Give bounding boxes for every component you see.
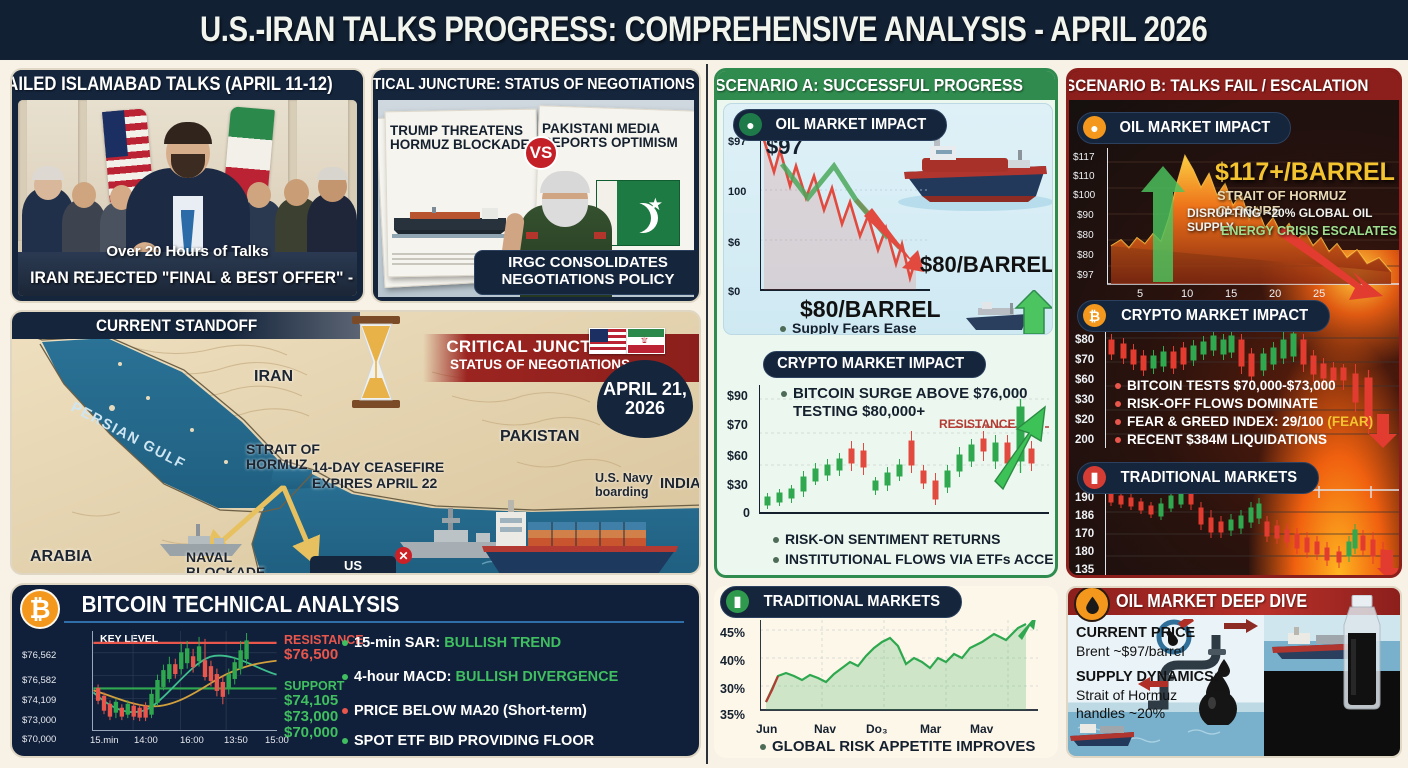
deep-dive-right-illustration: PRICE SCENARIOS Deal: $80-85 Status Quo:…: [1264, 615, 1400, 756]
btc-bullet-2: PRICE BELOW MA20 (Short-term): [342, 703, 587, 719]
trad-b-ytick-4: 135: [1075, 564, 1094, 576]
map-label-arabia: ARABIA: [30, 548, 92, 566]
oil-a-ytick-2: $6: [728, 237, 740, 249]
trad-a-bullet: GLOBAL RISK APPETITE IMPROVES: [760, 738, 1035, 755]
chart-up-icon: ▮: [1083, 466, 1106, 489]
irgc-badge: IRGC CONSOLIDATES NEGOTIATIONS POLICY: [474, 250, 694, 295]
crypto-a-ytick-1: $70: [727, 418, 748, 432]
oil-a-end-price: $80/BARREL: [920, 252, 1053, 278]
trad-a-ytick-1: 40%: [720, 654, 745, 668]
crypto-a-headline: BITCOIN SURGE ABOVE $76,000 TESTING $80,…: [781, 385, 1028, 421]
oil-drop-icon: [1074, 586, 1110, 622]
crypto-a-ytick-3: $30: [727, 478, 748, 492]
fear-tag: (FEAR): [1327, 414, 1373, 429]
deep-supply-value-2: handles ~20%: [1076, 705, 1165, 721]
crypto-a-bullet-0: RISK-ON SENTIMENT RETURNS: [773, 531, 1000, 547]
btc-bullet-3: SPOT ETF BID PROVIDING FLOOR: [342, 733, 594, 749]
crypto-a-ytick-2: $60: [727, 449, 748, 463]
crypto-b-bullet-0: BITCOIN TESTS $70,000-$73,000: [1115, 378, 1336, 393]
btc-ytick-3: $73,000: [22, 715, 56, 726]
bullet-dot-icon: [342, 738, 348, 744]
crypto-a-ytick-4: 0: [743, 506, 750, 520]
headline-left: TRUMP THREATENS HORMUZ BLOCKADE: [390, 124, 536, 152]
bullet-dot-icon: [760, 744, 766, 750]
oil-b-ytick-3: $90: [1077, 210, 1094, 221]
islamabad-main-caption: IRAN REJECTED "FINAL & BEST OFFER" - NO …: [18, 268, 357, 288]
oil-b-xtick-0: 5: [1137, 288, 1143, 300]
bullet-dot-icon: [1115, 383, 1121, 389]
chip-crypto-market-impact-b: ₿ CRYPTO MARKET IMPACT: [1077, 300, 1330, 332]
btc-ytick-2: $74,109: [22, 695, 56, 706]
deep-current-price-label: CURRENT PRICE: [1076, 625, 1195, 641]
chart-up-icon: ▮: [726, 590, 749, 613]
bitcoin-icon: ₿: [20, 589, 60, 629]
bullet-dot-icon: [1115, 437, 1121, 443]
bitcoin-icon: ₿: [1083, 304, 1106, 327]
crypto-b-ytick-3: $30: [1075, 394, 1094, 406]
crypto-b-ytick-2: $60: [1075, 374, 1094, 386]
map-label-india: INDIA: [660, 475, 701, 492]
chip-traditional-markets-b: ▮ TRADITIONAL MARKETS: [1077, 462, 1319, 494]
panel-bitcoin-technical-analysis: ₿ BITCOIN TECHNICAL ANALYSIS KEY LEVEL $…: [10, 583, 701, 758]
map-label-strait: STRAIT OF HORMUZ: [246, 442, 320, 472]
oil-a-bullet-0: Supply Fears Ease: [780, 320, 917, 335]
panel-header-juncture: CRITICAL JUNCTURE: STATUS OF NEGOTIATION…: [373, 70, 699, 100]
btc-support-label: SUPPORT: [284, 679, 344, 693]
oil-a-ytick-1: 100: [728, 186, 746, 198]
btc-xtick-2: 16:00: [180, 735, 204, 746]
crypto-b-bullet-1: RISK-OFF FLOWS DOMINATE: [1115, 396, 1318, 411]
divider: [64, 621, 684, 623]
crypto-b-ytick-4: $20: [1075, 414, 1094, 426]
bullet-dot-icon: [342, 640, 348, 646]
oil-b-ytick-0: $117: [1073, 152, 1095, 163]
trad-b-candlestick-chart: [1105, 486, 1399, 578]
oil-drop-icon: ●: [1083, 116, 1106, 139]
map-label-pakistan: PAKISTAN: [500, 428, 579, 446]
oil-a-ytick-3: $0: [728, 286, 740, 298]
us-flag-icon: [589, 328, 627, 354]
hourglass-icon: [348, 316, 404, 408]
trad-a-xtick-2: Do₃: [866, 722, 888, 736]
crypto-a-bullet-1: INSTITUTIONAL FLOWS VIA ETFs ACCELERATE: [773, 551, 1053, 567]
btc-xtick-0: 15.min: [90, 735, 119, 746]
btc-ytick-4: $70,000: [22, 734, 56, 745]
map-label-ceasefire: 14-DAY CEASEFIRE EXPIRES APRIL 22: [312, 460, 444, 491]
oil-b-xtick-3: 20: [1269, 288, 1281, 300]
panel-scenario-a: SCENARIO A: SUCCESSFUL PROGRESS $97 100 …: [714, 68, 1058, 578]
trad-a-ytick-3: 35%: [720, 708, 745, 722]
flag-pair: [589, 328, 665, 354]
crypto-b-ytick-5: 200: [1075, 434, 1094, 446]
crypto-b-bullet-2: FEAR & GREED INDEX: 29/100 (FEAR): [1115, 414, 1373, 429]
close-icon: ✕: [395, 547, 412, 564]
bullet-dot-icon: [1115, 419, 1121, 425]
panel-oil-market-deep-dive: OIL MARKET DEEP DIVE: [1066, 586, 1402, 758]
btc-ytick-0: $76,562: [22, 650, 56, 661]
oil-b-xtick-2: 15: [1225, 288, 1237, 300]
trad-b-ytick-3: 180: [1075, 546, 1094, 558]
trad-a-area-chart: [760, 620, 1038, 718]
btc-support-value-2: $70,000: [284, 725, 338, 742]
btc-bullet-1: 4-hour MACD: BULLISH DIVERGENCE: [342, 669, 618, 685]
headline-right: PAKISTANI MEDIA REPORTS OPTIMISM: [542, 122, 694, 150]
map-label-iran: IRAN: [254, 368, 293, 386]
chip-traditional-markets-a: ▮ TRADITIONAL MARKETS: [720, 586, 962, 618]
panel-header-btc-ta: BITCOIN TECHNICAL ANALYSIS: [64, 591, 417, 618]
trad-a-xtick-4: Mav: [970, 722, 993, 736]
bullet-dot-icon: [1115, 401, 1121, 407]
deep-dive-left-illustration: CURRENT PRICE Brent ~$97/barrel SUPPLY D…: [1068, 615, 1264, 756]
oil-b-ytick-2: $100: [1073, 190, 1095, 201]
juncture-illustration: TRUMP THREATENS HORMUZ BLOCKADE PAKISTAN…: [378, 100, 694, 297]
oil-b-ytick-4: $80: [1077, 230, 1094, 241]
crypto-b-ytick-0: $80: [1075, 334, 1094, 346]
trad-a-xtick-1: Nav: [814, 722, 836, 736]
vs-badge: VS: [524, 136, 558, 170]
btc-xtick-1: 14:00: [134, 735, 158, 746]
bullet-dot-icon: [342, 674, 348, 680]
oil-b-xtick-1: 10: [1181, 288, 1193, 300]
deep-supply-label: SUPPLY DYNAMICS:: [1076, 669, 1219, 685]
trad-a-xtick-0: Jun: [756, 722, 777, 736]
btc-bullet-0: 15-min SAR: BULLISH TREND: [342, 635, 561, 651]
oil-b-sub-3: ENERGY CRISIS ESCALATES: [1221, 224, 1397, 238]
btc-resistance-value: $76,500: [284, 647, 338, 664]
oil-b-xtick-4: 25: [1313, 288, 1325, 300]
oil-b-ytick-6: $97: [1077, 270, 1094, 281]
trad-b-ytick-1: 186: [1075, 510, 1094, 522]
bullet-dot-icon: [342, 708, 348, 714]
btc-xtick-3: 13:50: [224, 735, 248, 746]
oil-b-ytick-5: $80: [1077, 250, 1094, 261]
oil-drop-icon: ●: [739, 113, 762, 136]
page-title: U.S.-IRAN TALKS PROGRESS: COMPREHENSIVE …: [200, 10, 1207, 50]
chip-oil-market-impact-a: ● OIL MARKET IMPACT: [733, 109, 947, 141]
btc-ytick-1: $76,582: [22, 675, 56, 686]
chip-oil-market-impact-b: ● OIL MARKET IMPACT: [1077, 112, 1291, 144]
panel-traditional-markets-a: ▮ TRADITIONAL MARKETS 45% 40% 30% 35% Ju…: [714, 586, 1058, 758]
oil-bottle-icon: [1332, 595, 1392, 711]
green-up-arrow-icon: [1014, 290, 1053, 334]
islamabad-illustration: Over 20 Hours of Talks IRAN REJECTED "FI…: [18, 100, 357, 296]
scenario-b-body: $117 $110 $100 $90 $80 $80 $97: [1069, 100, 1399, 575]
bullet-dot-icon: [781, 391, 787, 397]
panel-critical-juncture: CRITICAL JUNCTURE: STATUS OF NEGOTIATION…: [371, 68, 701, 303]
trad-a-ytick-2: 30%: [720, 682, 745, 696]
page-title-bar: U.S.-IRAN TALKS PROGRESS: COMPREHENSIVE …: [0, 0, 1408, 60]
bullet-dot-icon: [773, 537, 779, 543]
deep-supply-value-1: Strait of Hormuz: [1076, 687, 1177, 703]
oil-b-big-price: $117+/BARREL: [1215, 158, 1395, 187]
panel-current-standoff-map: PERSIAN GULF: [10, 310, 701, 575]
trad-a-xtick-3: Mar: [920, 722, 941, 736]
map-tag-us-extended-blockade: US EXTENDED BLOCKADE: [310, 556, 396, 575]
crypto-a-resistance-label: RESISTANCE: [939, 417, 1015, 431]
panel-header-scenario-a: SCENARIO A: SUCCESSFUL PROGRESS: [717, 71, 1055, 100]
trad-a-ytick-0: 45%: [720, 626, 745, 640]
deep-current-price-value: Brent ~$97/barrel: [1076, 643, 1185, 659]
chip-crypto-market-impact-a: CRYPTO MARKET IMPACT: [763, 351, 986, 378]
panel-header-scenario-b: SCENARIO B: TALKS FAIL / ESCALATION: [1069, 71, 1399, 100]
iran-flag-icon: [627, 328, 665, 354]
map-label-naval-blockade: NAVAL BLOCKADE: [186, 550, 265, 575]
panel-failed-islamabad-talks: FAILED ISLAMABAD TALKS (APRIL 11-12): [10, 68, 365, 303]
panel-header-standoff: CURRENT STANDOFF: [12, 312, 360, 339]
column-divider: [706, 64, 708, 764]
panel-scenario-b: SCENARIO B: TALKS FAIL / ESCALATION $117…: [1066, 68, 1402, 578]
panel-header-islamabad: FAILED ISLAMABAD TALKS (APRIL 11-12): [12, 70, 363, 100]
islamabad-subcaption: Over 20 Hours of Talks: [18, 243, 357, 260]
map-label-navy-boarding: U.S. Navy boarding: [595, 472, 653, 500]
bullet-dot-icon: [773, 557, 779, 563]
btc-candlestick-chart: [92, 631, 277, 731]
trad-b-ytick-2: 170: [1075, 528, 1094, 540]
oil-b-ytick-1: $110: [1073, 171, 1095, 182]
bullet-dot-icon: [780, 326, 786, 332]
crypto-b-bullet-3: RECENT $384M LIQUIDATIONS: [1115, 432, 1327, 447]
crypto-b-ytick-1: $70: [1075, 354, 1094, 366]
crypto-a-ytick-0: $90: [727, 389, 748, 403]
tanker-photo-icon: [392, 204, 510, 238]
oil-a-caption: $80/BARREL: [800, 296, 941, 323]
